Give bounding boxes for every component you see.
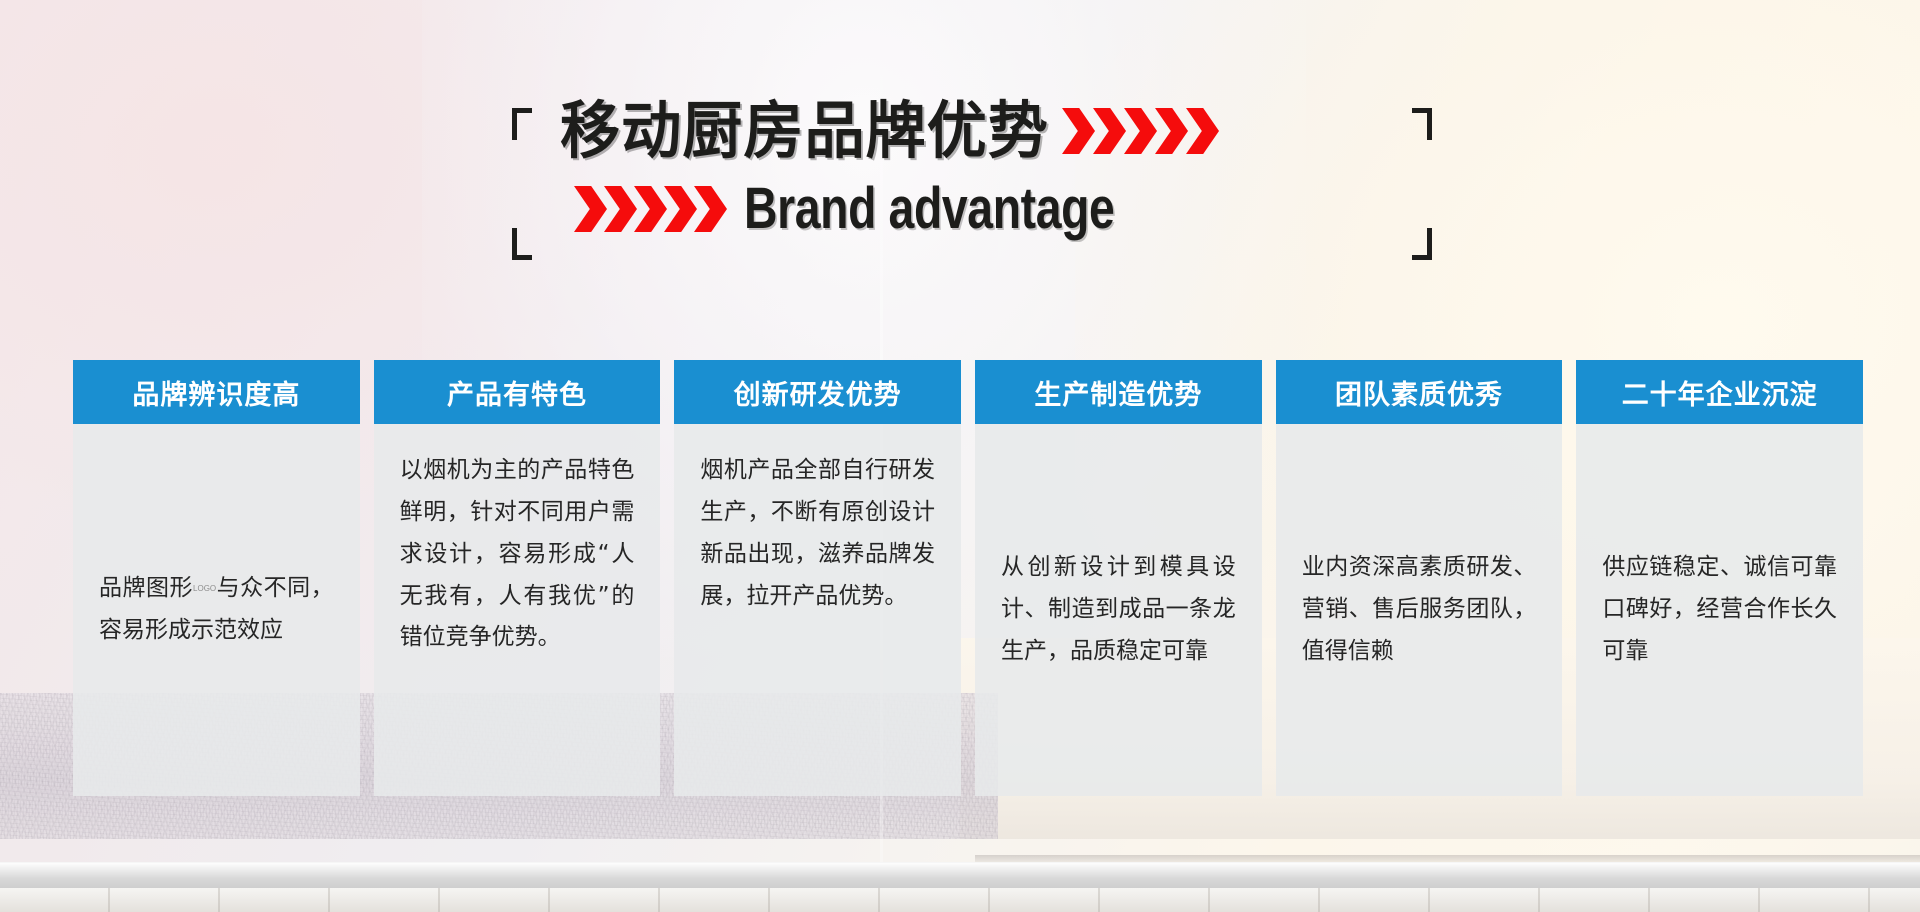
banner-title-english: Brand advantage <box>744 180 1114 238</box>
advantage-card: 生产制造优势 从创新设计到模具设计、制造到成品一条龙生产，品质稳定可靠 <box>975 360 1262 796</box>
background-baseboard <box>0 862 1920 888</box>
card-body-text: 供应链稳定、诚信可靠口碑好，经营合作长久可靠 <box>1602 547 1837 673</box>
card-body: 烟机产品全部自行研发生产，不断有原创设计新品出现，滋养品牌发展，拉开产品优势。 <box>674 424 961 796</box>
chevron-right-icon <box>604 186 637 232</box>
card-body: 从创新设计到模具设计、制造到成品一条龙生产，品质稳定可靠 <box>975 424 1262 796</box>
chevron-right-icon <box>574 186 607 232</box>
card-header-title: 产品有特色 <box>374 360 661 424</box>
chevron-right-icon <box>694 186 727 232</box>
card-body-text: 业内资深高素质研发、营销、售后服务团队，值得信赖 <box>1302 547 1537 673</box>
corner-bracket-bottom-left <box>512 228 544 260</box>
corner-bracket-top-left <box>512 108 544 140</box>
chevron-right-icon <box>1062 108 1095 154</box>
corner-bracket-top-right <box>1400 108 1432 140</box>
card-body: 业内资深高素质研发、营销、售后服务团队，值得信赖 <box>1276 424 1563 796</box>
card-header-title: 生产制造优势 <box>975 360 1262 424</box>
banner-title-block: 移动厨房品牌优势 Brand advantage <box>512 100 1432 260</box>
chevron-right-icon <box>1124 108 1157 154</box>
card-body-text: 从创新设计到模具设计、制造到成品一条龙生产，品质稳定可靠 <box>1001 547 1236 673</box>
advantage-card: 品牌辨识度高 品牌图形LOGO与众不同，容易形成示范效应 <box>73 360 360 796</box>
chevron-right-icon <box>1093 108 1126 154</box>
card-body: 供应链稳定、诚信可靠口碑好，经营合作长久可靠 <box>1576 424 1863 796</box>
corner-bracket-bottom-right <box>1400 228 1432 260</box>
chevron-right-icon <box>1155 108 1188 154</box>
chevron-right-icon <box>664 186 697 232</box>
chevron-group-bottom <box>574 186 724 232</box>
card-header-title: 品牌辨识度高 <box>73 360 360 424</box>
chevron-right-icon <box>1186 108 1219 154</box>
chevron-right-icon <box>634 186 667 232</box>
card-header-title: 二十年企业沉淀 <box>1576 360 1863 424</box>
background-floor-tile-lines <box>0 888 1920 912</box>
advantage-card: 创新研发优势 烟机产品全部自行研发生产，不断有原创设计新品出现，滋养品牌发展，拉… <box>674 360 961 796</box>
card-body: 品牌图形LOGO与众不同，容易形成示范效应 <box>73 424 360 796</box>
card-body-text: 以烟机为主的产品特色鲜明，针对不同用户需求设计，容易形成“人无我有，人有我优”的… <box>400 450 635 659</box>
card-header-title: 团队素质优秀 <box>1276 360 1563 424</box>
card-body-text: 烟机产品全部自行研发生产，不断有原创设计新品出现，滋养品牌发展，拉开产品优势。 <box>700 450 935 617</box>
card-body-text-prefix: 品牌图形 <box>99 575 193 601</box>
card-header-title: 创新研发优势 <box>674 360 961 424</box>
advantage-card-grid: 品牌辨识度高 品牌图形LOGO与众不同，容易形成示范效应 产品有特色 以烟机为主… <box>73 360 1863 796</box>
advantage-card: 团队素质优秀 业内资深高素质研发、营销、售后服务团队，值得信赖 <box>1276 360 1563 796</box>
chevron-group-top <box>1064 108 1219 154</box>
card-body-text: 品牌图形LOGO与众不同，容易形成示范效应 <box>99 568 334 652</box>
advantage-card: 二十年企业沉淀 供应链稳定、诚信可靠口碑好，经营合作长久可靠 <box>1576 360 1863 796</box>
banner-title-chinese: 移动厨房品牌优势 <box>560 100 1049 162</box>
advantage-card: 产品有特色 以烟机为主的产品特色鲜明，针对不同用户需求设计，容易形成“人无我有，… <box>374 360 661 796</box>
banner-title-row-primary: 移动厨房品牌优势 <box>560 100 1219 162</box>
banner-title-row-secondary: Brand advantage <box>574 180 1207 238</box>
logo-superscript: LOGO <box>193 584 216 593</box>
card-body: 以烟机为主的产品特色鲜明，针对不同用户需求设计，容易形成“人无我有，人有我优”的… <box>374 424 661 796</box>
